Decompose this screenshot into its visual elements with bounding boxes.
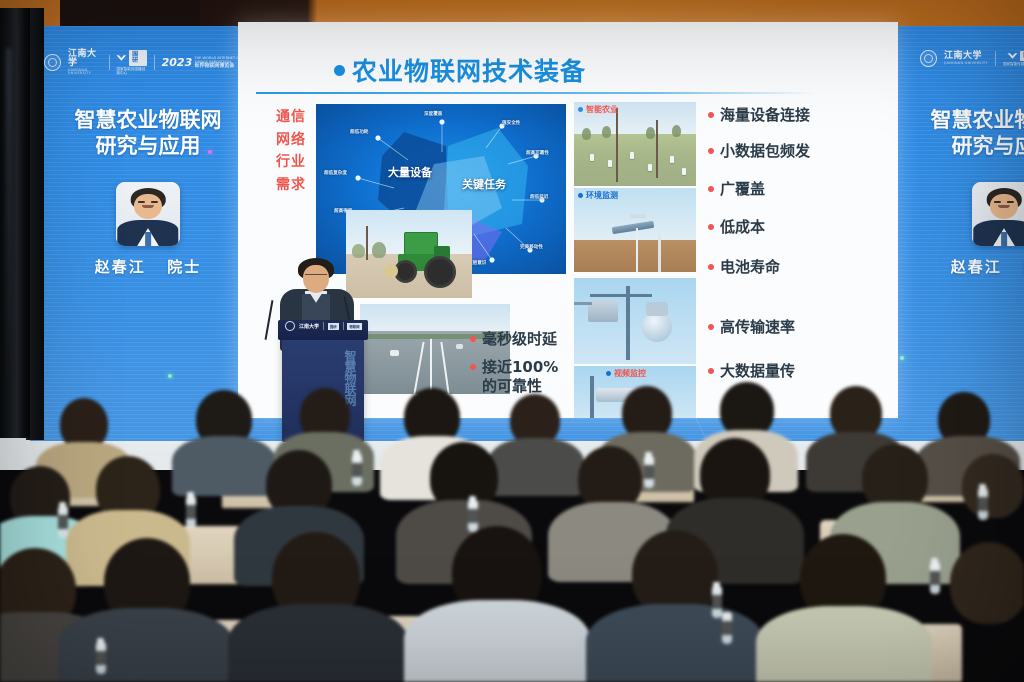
bottle-cap <box>931 558 938 563</box>
tractor-rear-wheel <box>424 256 456 288</box>
speaker-portrait <box>116 182 180 246</box>
university-name-en: JIANGNAN UNIVERSITY <box>944 62 988 65</box>
photo-smart-agriculture: 智能农业 <box>574 102 696 186</box>
bullet-text: 毫秒级时延 <box>482 330 557 349</box>
slide-left-label: 通信 网络 行业 需求 <box>274 106 308 197</box>
speaker-academic-title: 院士 <box>167 258 201 276</box>
partner-sub: 国家智能传感器创新中心 <box>116 67 146 75</box>
water-bottle <box>978 488 988 520</box>
photo-caption-video-surveillance: 视频监控 <box>606 368 646 379</box>
photo-tree <box>602 126 611 138</box>
water-bottle <box>930 562 940 594</box>
equipment-pole <box>626 286 630 360</box>
photo-field-sensor <box>648 164 652 171</box>
bullet-dot-icon <box>708 112 714 118</box>
dome-camera-housing <box>646 302 668 316</box>
bottle-cap <box>469 496 476 501</box>
bullet-dot-icon <box>708 368 714 374</box>
lectern-university-name: 江南大学 <box>299 323 319 330</box>
bullet-right-4: 电池寿命 <box>708 258 780 277</box>
photo-tree <box>352 244 365 258</box>
water-bottle <box>186 496 196 528</box>
portrait-mouth <box>998 205 1010 208</box>
photo-tree <box>582 128 591 140</box>
equipment-crossarm <box>590 294 652 297</box>
bottle-cap <box>97 638 104 643</box>
photo-tractor <box>346 210 472 298</box>
bullet-text: 低成本 <box>720 218 765 237</box>
portrait-brow <box>138 201 145 203</box>
portrait-brow <box>994 201 1001 203</box>
photo-caption-smart-agriculture: 智能农业 <box>578 104 618 115</box>
audience-shoulders <box>58 608 234 682</box>
right-speaker-panel: 江南大学 JIANGNAN UNIVERSITY 国研 国家智能传感器创新中心 … <box>900 26 1024 441</box>
bullet-text: 接近100% <box>482 358 558 377</box>
caption-text: 视频监控 <box>614 368 646 379</box>
radar-label-9: 超高可靠性 <box>526 150 549 156</box>
photo-utility-pole <box>616 108 618 182</box>
bottle-cap <box>353 450 360 455</box>
panel-speaker-line: 赵春江 院士 <box>44 256 252 277</box>
portrait-tie <box>145 232 151 246</box>
photo-tree <box>646 127 655 139</box>
partner-mark-icon <box>1007 52 1018 60</box>
bottle-cap <box>713 582 720 587</box>
logo-divider <box>323 322 324 330</box>
university-seal-icon <box>44 54 61 71</box>
left-label-0: 通信 <box>274 106 308 129</box>
bullet-middle-0: 毫秒级时延 <box>470 330 557 349</box>
bullet-text: 高传输速率 <box>720 318 795 337</box>
bullet-dot-icon <box>708 224 714 230</box>
water-bottle <box>722 612 732 644</box>
dome-camera <box>642 312 672 342</box>
photo-field-sensor <box>682 168 686 175</box>
partner-badge: 国研 <box>1020 51 1024 61</box>
photo-camera-equipment <box>574 278 696 364</box>
radar-zone-0: 大量设备 <box>388 164 432 180</box>
lectern-badge1: 国研 <box>328 323 339 330</box>
speaker-name: 赵春江 <box>95 258 146 276</box>
audience-head <box>962 454 1024 518</box>
bullet-dot-icon <box>708 148 714 154</box>
water-bottle <box>58 506 68 538</box>
caption-text: 环境监测 <box>586 190 618 201</box>
photo-environment-monitoring: 环境监测 <box>574 188 696 272</box>
portrait-face <box>134 194 162 220</box>
panel-title-line1: 智慧农业物联网 <box>44 108 252 134</box>
road-vehicle <box>456 344 463 349</box>
university-seal-icon <box>285 321 295 331</box>
panel-title-line2: 研究与应用 <box>44 134 252 160</box>
portrait-face <box>990 194 1018 220</box>
lectern-logo-row: 江南大学 国研 物联网 <box>285 321 362 331</box>
university-name-cn: 江南大学 <box>944 52 982 61</box>
photo-tree <box>372 242 386 258</box>
partner-sub: 国家智能传感器创新中心 <box>1003 62 1024 66</box>
photo-field-sensor <box>670 156 674 163</box>
pillar-highlight <box>6 48 11 378</box>
slide-title-row: 农业物联网技术装备 <box>334 52 586 88</box>
water-bottle <box>96 642 106 674</box>
logo-divider <box>995 51 996 66</box>
bullet-dot-icon <box>470 336 476 342</box>
water-bottle <box>352 454 362 486</box>
left-label-2: 行业 <box>274 151 308 174</box>
photo-tree <box>672 125 681 137</box>
radar-label-10: 强安全性 <box>502 120 520 126</box>
equipment-enclosure <box>588 300 618 322</box>
bullet-text: 电池寿命 <box>720 258 780 277</box>
bullet-text: 海量设备连接 <box>720 106 810 125</box>
bullet-right-1: 小数据包频发 <box>708 142 810 161</box>
lectern-badge2: 物联网 <box>347 323 361 330</box>
photo-caption-environment-monitoring: 环境监测 <box>578 190 618 201</box>
left-label-3: 需求 <box>274 174 308 197</box>
radar-zone-1: 关键任务 <box>462 176 506 192</box>
tractor-implement <box>384 264 398 278</box>
bottle-cap <box>979 484 986 489</box>
photo-utility-pole <box>656 120 658 178</box>
partner-mark-icon <box>116 54 127 62</box>
audience-shoulders <box>488 438 584 496</box>
photo-sensor-box <box>658 234 661 272</box>
partner-badge: 国研 <box>129 50 147 66</box>
audience-shoulders <box>172 436 276 496</box>
water-bottle <box>712 586 722 618</box>
left-label-1: 网络 <box>274 129 308 152</box>
photo-pole <box>366 226 368 260</box>
title-underline <box>256 92 816 94</box>
bullet-dot-icon <box>708 324 714 330</box>
slide-title: 农业物联网技术装备 <box>352 52 586 88</box>
speaker-name: 赵春江 <box>951 258 1002 276</box>
portrait-tie <box>1001 232 1007 246</box>
event-year: 2023 <box>162 57 193 68</box>
bullet-right-6: 大数据量传 <box>708 362 795 381</box>
bullet-dot-icon <box>470 364 476 370</box>
audience-head <box>950 542 1024 624</box>
radar-label-0: 深度覆盖 <box>424 111 442 117</box>
caption-dot-icon <box>578 107 583 112</box>
audience-shoulders <box>404 600 590 682</box>
audience-shoulders <box>586 604 764 682</box>
university-seal-icon <box>920 50 937 67</box>
radar-label-1: 超低功耗 <box>350 129 368 135</box>
bullet-text: 小数据包频发 <box>720 142 810 161</box>
lectern-top-panel: 江南大学 国研 物联网 <box>278 320 368 340</box>
logo-divider <box>154 55 155 70</box>
left-speaker-panel: 江南大学 JIANGNAN UNIVERSITY 国研 国家智能传感器创新中心 … <box>44 26 252 441</box>
panel-title-line2: 研究与应用 <box>900 134 1024 160</box>
stage-pillar <box>0 8 30 438</box>
bullet-dot-icon <box>708 186 714 192</box>
photo-field-sensor <box>590 154 594 161</box>
radar-label-2: 超低复杂度 <box>324 170 347 176</box>
portrait-brow <box>151 201 158 203</box>
caption-dot-icon <box>606 371 611 376</box>
speaker-glasses <box>305 274 327 280</box>
panel-title-line1: 智慧农业物联网 <box>900 108 1024 134</box>
audience <box>0 380 1024 682</box>
bottle-cap <box>645 452 652 457</box>
photo-ground <box>574 240 696 272</box>
radar-label-7: 完美移动性 <box>520 244 543 250</box>
logo-divider <box>109 55 110 70</box>
antenna <box>574 302 592 305</box>
bullet-right-0: 海量设备连接 <box>708 106 810 125</box>
audience-shoulders <box>756 606 932 682</box>
ceiling-dark-recess <box>60 0 200 26</box>
photo-field-sensor <box>608 160 612 167</box>
bullet-dot-icon <box>334 65 345 76</box>
photo-mast <box>636 228 638 272</box>
panel-logo-row: 江南大学 JIANGNAN UNIVERSITY 国研 国家智能传感器创新中心 … <box>900 50 1024 67</box>
photo-field-sensor <box>630 152 634 159</box>
road-vehicle <box>390 350 399 356</box>
caption-text: 智能农业 <box>586 104 618 115</box>
bullet-right-3: 低成本 <box>708 218 765 237</box>
audience-shoulders <box>228 604 408 682</box>
bullet-text: 广覆盖 <box>720 180 765 199</box>
bullet-text: 大数据量传 <box>720 362 795 381</box>
panel-logo-row: 江南大学 JIANGNAN UNIVERSITY 国研 国家智能传感器创新中心 … <box>44 50 252 76</box>
speaker-portrait <box>972 182 1024 246</box>
bullet-dot-icon <box>708 264 714 270</box>
university-name-cn: 江南大学 <box>68 50 102 68</box>
bullet-right-2: 广覆盖 <box>708 180 765 199</box>
radar-label-8: 超低延迟 <box>530 194 548 200</box>
water-bottle <box>644 456 654 488</box>
panel-speaker-line: 赵春江 院士 <box>900 256 1024 277</box>
bottle-cap <box>59 502 66 507</box>
photo-anemometer <box>630 214 646 218</box>
caption-dot-icon <box>578 193 583 198</box>
portrait-mouth <box>142 205 154 208</box>
water-bottle <box>468 500 478 532</box>
conference-photo-scene: 江南大学 JIANGNAN UNIVERSITY 国研 国家智能传感器创新中心 … <box>0 0 1024 682</box>
portrait-brow <box>1007 201 1014 203</box>
university-name-en: JIANGNAN UNIVERSITY <box>68 69 102 76</box>
bottle-cap <box>187 492 194 497</box>
bullet-right-5: 高传输速率 <box>708 318 795 337</box>
logo-divider <box>343 322 344 330</box>
